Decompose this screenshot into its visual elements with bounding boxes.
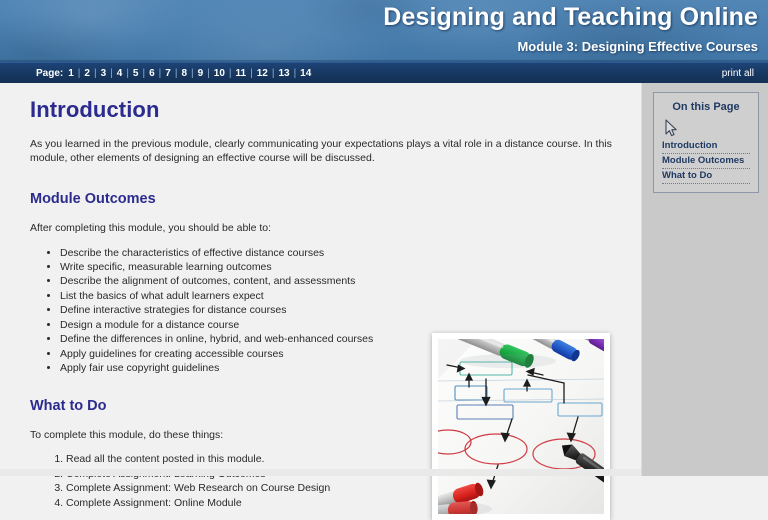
page-nav-link-12[interactable]: 12: [256, 68, 269, 79]
page-nav-link-1[interactable]: 1: [67, 68, 75, 79]
on-this-page-link[interactable]: Module Outcomes: [662, 155, 750, 166]
footer-strip: [0, 469, 641, 476]
module-outcome-item: Design a module for a distance course: [60, 318, 641, 332]
cursor-row: [662, 119, 750, 139]
page-title: Introduction: [30, 97, 641, 123]
body-wrapper: Introduction As you learned in the previ…: [0, 83, 768, 476]
flowchart-photo-frame: [432, 333, 610, 520]
page-nav-link-11[interactable]: 11: [235, 68, 248, 79]
module-outcome-item: Describe the alignment of outcomes, cont…: [60, 274, 641, 288]
page-nav-link-7[interactable]: 7: [164, 68, 172, 79]
on-this-page-title: On this Page: [662, 101, 750, 113]
main-content-column: Introduction As you learned in the previ…: [0, 83, 641, 476]
page-nav-link-8[interactable]: 8: [180, 68, 188, 79]
page-root: Designing and Teaching Online Module 3: …: [0, 0, 768, 476]
on-this-page-link[interactable]: What to Do: [662, 170, 750, 181]
module-outcome-item: Define interactive strategies for distan…: [60, 303, 641, 317]
page-nav-link-10[interactable]: 10: [213, 68, 226, 79]
print-all-link[interactable]: print all: [722, 63, 754, 84]
on-this-page-link[interactable]: Introduction: [662, 140, 750, 151]
page-nav-separator: |: [91, 68, 100, 79]
page-nav-separator: |: [226, 68, 235, 79]
page-nav-separator: |: [188, 68, 197, 79]
page-nav-separator: |: [247, 68, 256, 79]
on-this-page-box: On this Page IntroductionModule Outcomes…: [653, 92, 759, 193]
module-outcome-item: List the basics of what adult learners e…: [60, 289, 641, 303]
page-nav-link-14[interactable]: 14: [299, 68, 312, 79]
list-item: What to Do: [662, 169, 750, 184]
flowchart-photo-icon: [438, 339, 604, 514]
on-this-page-link-list: IntroductionModule OutcomesWhat to Do: [662, 139, 750, 184]
page-nav-link-3[interactable]: 3: [100, 68, 108, 79]
arrow-pointer-icon: [664, 119, 678, 137]
module-outcome-item: Describe the characteristics of effectiv…: [60, 246, 641, 260]
module-subtitle: Module 3: Designing Effective Courses: [517, 39, 758, 54]
module-outcomes-lead-in: After completing this module, you should…: [30, 221, 630, 235]
page-nav-separator: |: [204, 68, 213, 79]
module-outcome-item: Write specific, measurable learning outc…: [60, 260, 641, 274]
page-nav-link-2[interactable]: 2: [83, 68, 91, 79]
list-item: Introduction: [662, 139, 750, 154]
page-nav-label: Page:: [36, 68, 63, 79]
introduction-section: Introduction As you learned in the previ…: [30, 97, 641, 165]
right-sidebar-column: On this Page IntroductionModule Outcomes…: [641, 83, 768, 476]
page-nav-separator: |: [123, 68, 132, 79]
page-nav-separator: |: [107, 68, 116, 79]
page-navigation-bar: Page:1|2|3|4|5|6|7|8|9|10|11|12|13|14 pr…: [0, 62, 768, 83]
list-item: Module Outcomes: [662, 154, 750, 169]
page-number-list: Page:1|2|3|4|5|6|7|8|9|10|11|12|13|14: [36, 63, 312, 84]
page-nav-separator: |: [291, 68, 300, 79]
introduction-paragraph: As you learned in the previous module, c…: [30, 137, 630, 165]
site-header: Designing and Teaching Online Module 3: …: [0, 0, 768, 62]
page-nav-separator: |: [139, 68, 148, 79]
site-title: Designing and Teaching Online: [383, 3, 758, 32]
page-nav-link-13[interactable]: 13: [277, 68, 290, 79]
page-nav-separator: |: [156, 68, 165, 79]
module-outcomes-heading: Module Outcomes: [30, 191, 641, 207]
page-nav-link-6[interactable]: 6: [148, 68, 156, 79]
